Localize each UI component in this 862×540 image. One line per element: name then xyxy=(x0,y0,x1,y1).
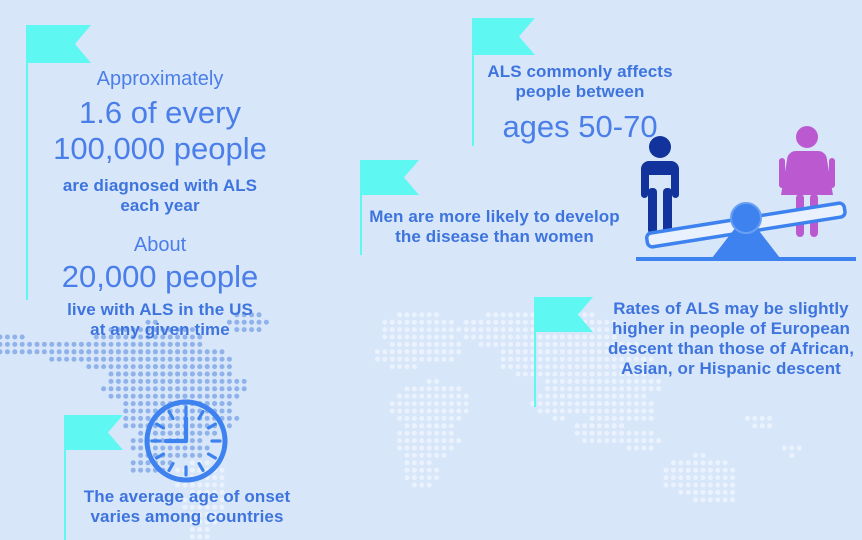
gender-line-2: the disease than women xyxy=(362,227,627,247)
ethnicity-text-block: Rates of ALS may be slightly higher in p… xyxy=(600,299,862,379)
male-figure-icon xyxy=(641,136,679,234)
ground-line xyxy=(636,257,856,261)
age-line-1: ALS commonly affects xyxy=(470,62,690,82)
gender-text-block: Men are more likely to develop the disea… xyxy=(362,207,627,247)
als-infographic: Approximately 1.6 of every 100,000 peopl… xyxy=(0,0,862,540)
gender-line-1: Men are more likely to develop xyxy=(362,207,627,227)
flag-pole xyxy=(26,25,28,300)
stats-line-6: About xyxy=(30,234,290,258)
onset-line-2: varies among countries xyxy=(62,507,312,527)
flag-banner-icon xyxy=(473,18,535,55)
stats-line-4: are diagnosed with ALS xyxy=(30,176,290,196)
ethnicity-line-3: descent than those of African, xyxy=(600,339,862,359)
flag-banner-icon xyxy=(361,160,419,195)
ethnicity-line-2: higher in people of European xyxy=(600,319,862,339)
stats-line-5: each year xyxy=(30,196,290,216)
stats-line-7: 20,000 people xyxy=(30,259,290,296)
seesaw-balance-icon xyxy=(630,118,862,266)
flag-banner-icon xyxy=(535,297,593,332)
flag-banner-icon xyxy=(65,415,123,450)
stats-line-3: 100,000 people xyxy=(30,131,290,168)
ethnicity-line-4: Asian, or Hispanic descent xyxy=(600,359,862,379)
ethnicity-line-1: Rates of ALS may be slightly xyxy=(600,299,862,319)
seesaw-pivot xyxy=(731,203,761,233)
stats-line-2: 1.6 of every xyxy=(30,95,290,132)
stats-line-9: at any given time xyxy=(30,320,290,340)
onset-line-1: The average age of onset xyxy=(62,487,312,507)
clock-icon xyxy=(141,396,231,486)
stats-line-1: Approximately xyxy=(30,68,290,92)
stats-line-8: live with ALS in the US xyxy=(30,300,290,320)
age-line-2: people between xyxy=(470,82,690,102)
onset-text-block: The average age of onset varies among co… xyxy=(62,487,312,527)
flag-banner-icon xyxy=(27,25,91,63)
stats-text-block: Approximately 1.6 of every 100,000 peopl… xyxy=(30,68,290,340)
